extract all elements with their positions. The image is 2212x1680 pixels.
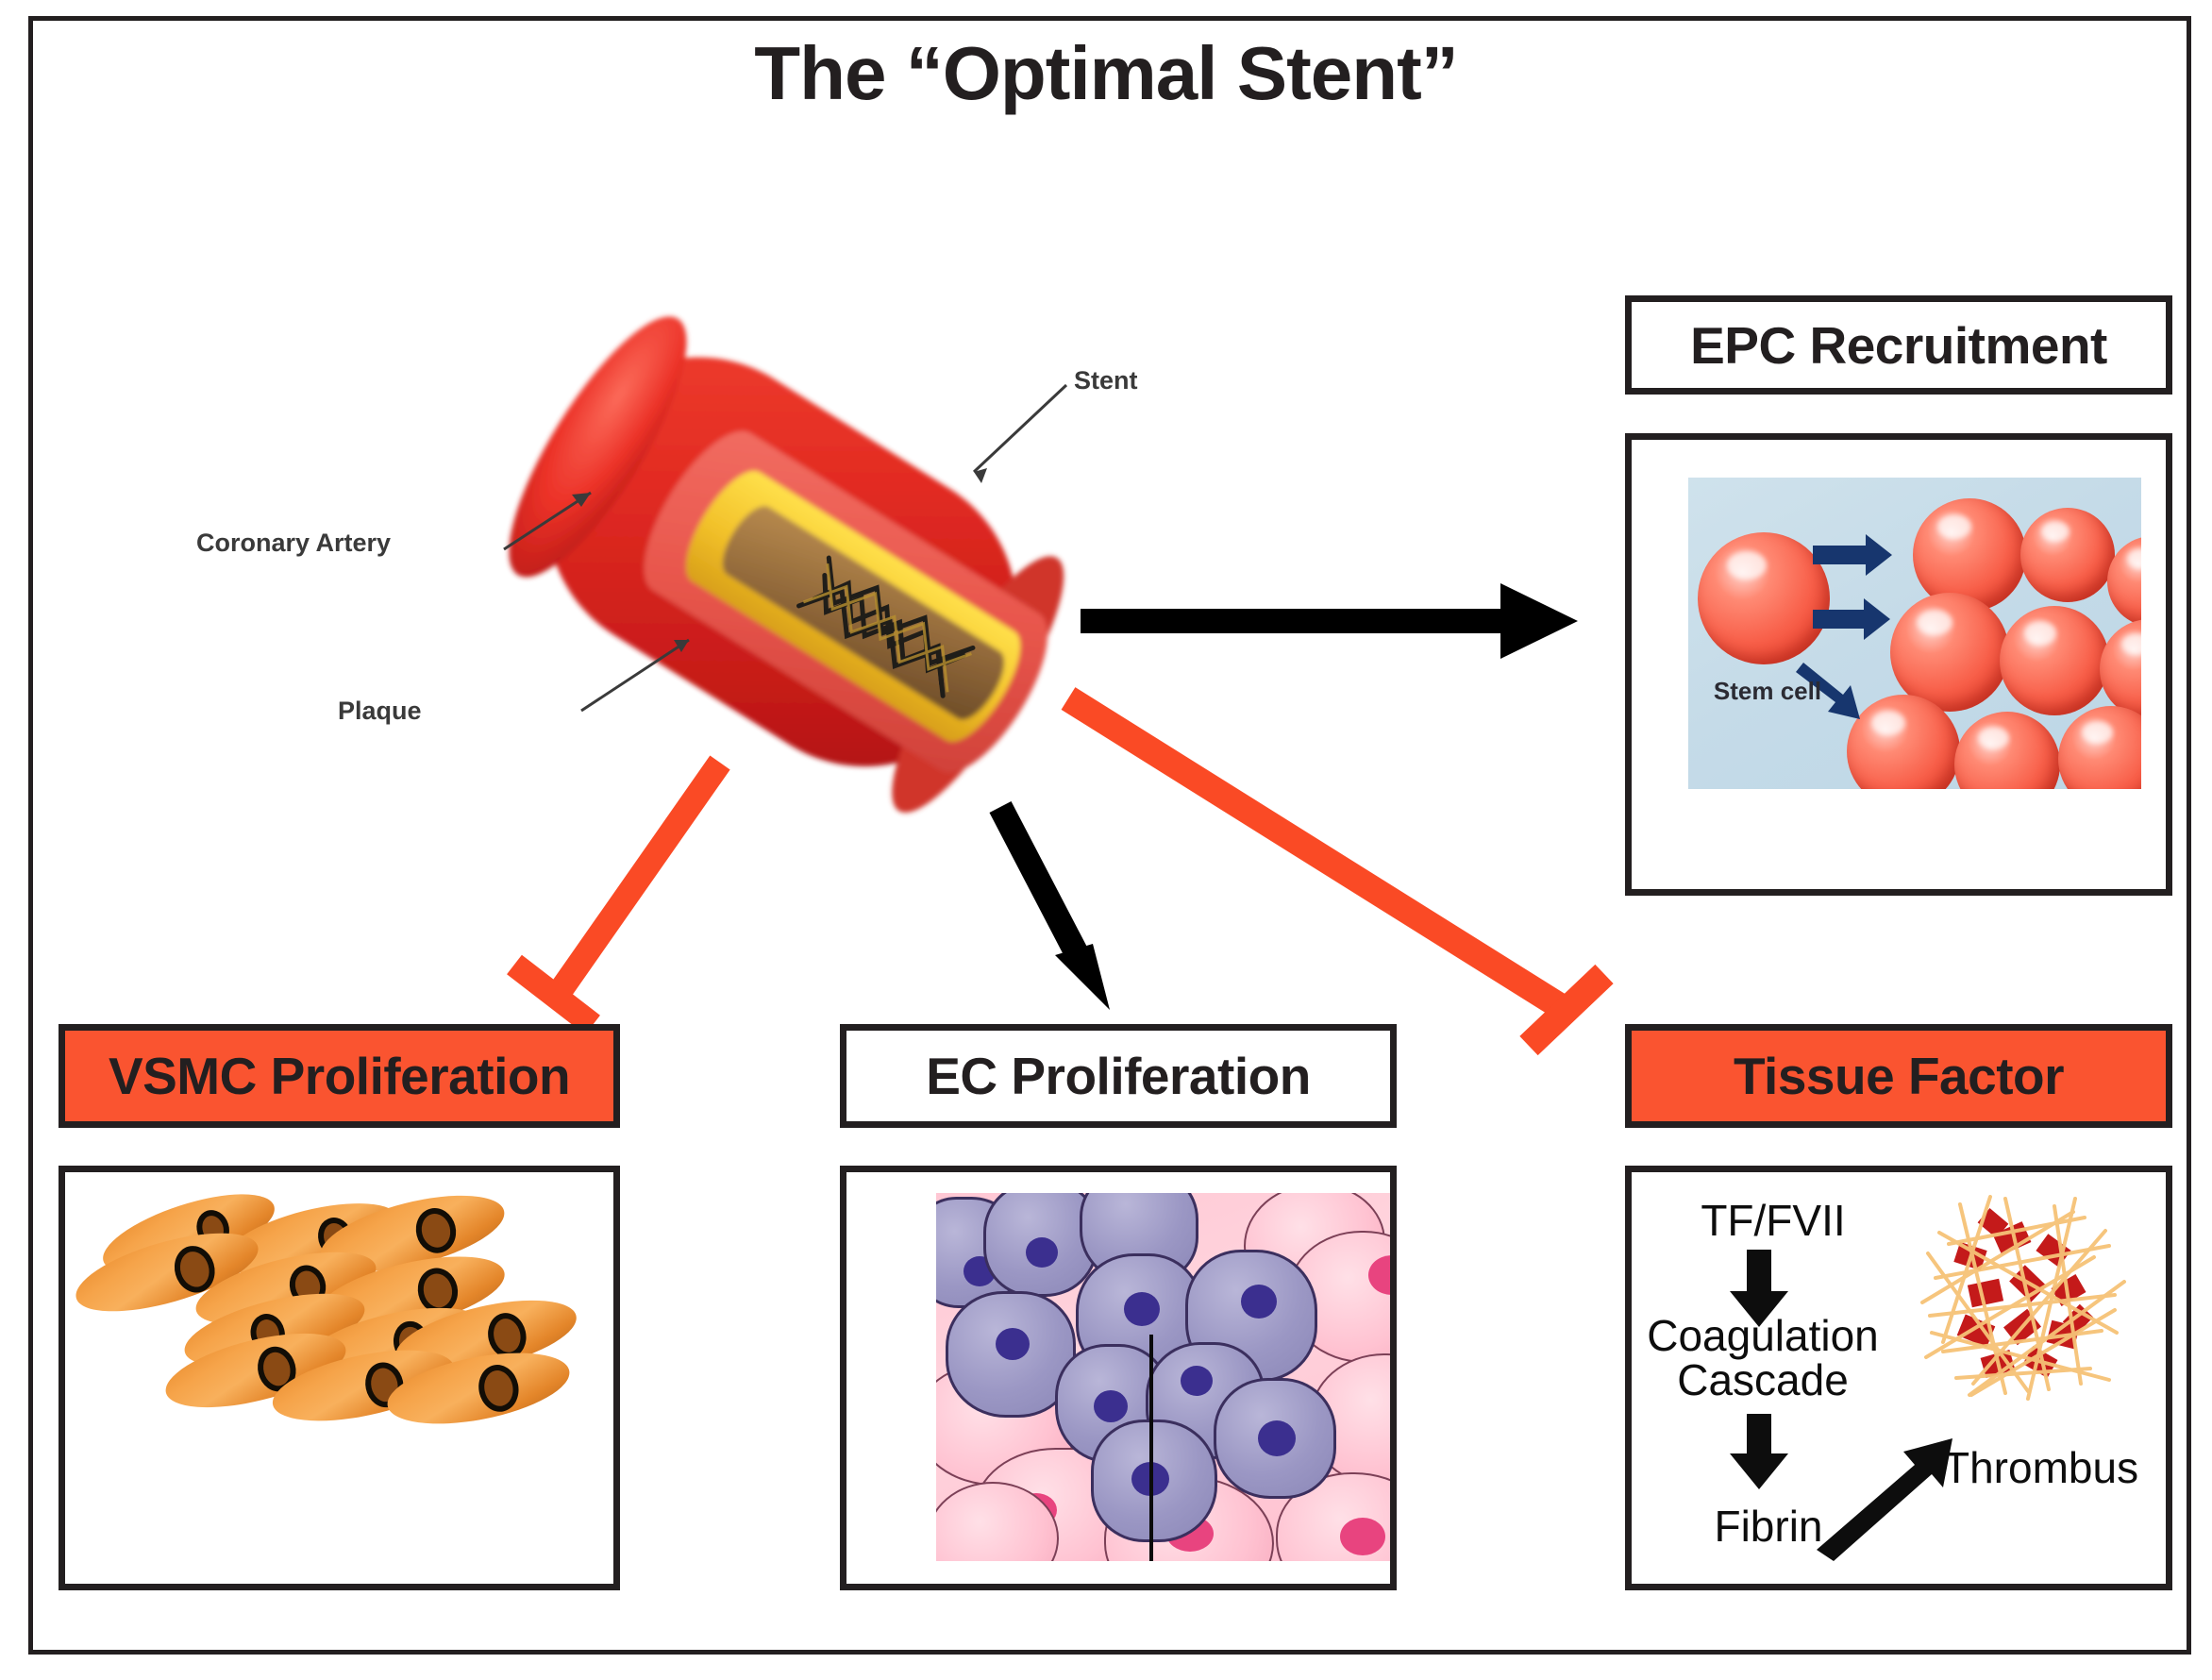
label-coronary-artery: Coronary Artery bbox=[196, 529, 391, 558]
thrombus-illustration bbox=[1915, 1191, 2132, 1408]
endothelial-nucleus bbox=[1124, 1292, 1160, 1326]
panel-body-vsmc bbox=[59, 1166, 620, 1590]
ec-histology-image bbox=[936, 1193, 1397, 1561]
panel-header-tissue-factor: Tissue Factor bbox=[1625, 1024, 2172, 1128]
leader-stent bbox=[974, 385, 1066, 472]
vsmc-cell-cluster bbox=[65, 1172, 613, 1584]
panel-body-ec bbox=[840, 1166, 1397, 1590]
leader-plaque bbox=[581, 640, 689, 711]
endothelial-cell bbox=[1091, 1420, 1217, 1542]
panel-header-ec-label: EC Proliferation bbox=[926, 1046, 1311, 1106]
panel-header-epc-label: EPC Recruitment bbox=[1690, 315, 2107, 376]
panel-header-vsmc-label: VSMC Proliferation bbox=[109, 1046, 570, 1106]
thrombus-svg bbox=[1915, 1191, 2132, 1408]
panel-body-epc: Stem cell bbox=[1625, 433, 2172, 896]
artery-svg bbox=[406, 245, 1142, 868]
diagram-canvas: The “Optimal Stent” bbox=[0, 0, 2212, 1680]
endothelial-cell bbox=[1214, 1378, 1336, 1499]
endothelial-nucleus bbox=[1241, 1285, 1277, 1319]
panel-header-ec: EC Proliferation bbox=[840, 1024, 1397, 1128]
endothelial-nucleus bbox=[1181, 1366, 1213, 1396]
pink-nucleus bbox=[1340, 1518, 1385, 1555]
pink-nucleus bbox=[1368, 1255, 1397, 1295]
pink-nucleus bbox=[1395, 1412, 1397, 1450]
panel-header-epc: EPC Recruitment bbox=[1625, 295, 2172, 395]
cell-nucleus bbox=[411, 1203, 461, 1257]
endothelial-nucleus bbox=[996, 1328, 1030, 1360]
endothelial-nucleus bbox=[1258, 1420, 1296, 1456]
coronary-artery-stent-illustration: Coronary Artery Stent Plaque bbox=[406, 245, 1142, 868]
label-stent: Stent bbox=[1074, 366, 1138, 395]
endothelial-nucleus bbox=[1094, 1390, 1128, 1422]
scale-bar-line bbox=[1149, 1335, 1153, 1561]
stem-cell-label: Stem cell bbox=[1711, 678, 1824, 704]
cell-nucleus bbox=[475, 1361, 523, 1415]
page-title: The “Optimal Stent” bbox=[0, 36, 2212, 111]
panel-header-tissue-factor-label: Tissue Factor bbox=[1734, 1046, 2064, 1106]
panel-body-tissue-factor: TF/FVII Coagulation Cascade Fibrin Throm… bbox=[1625, 1166, 2172, 1590]
epc-stem-cell-image: Stem cell bbox=[1688, 478, 2141, 789]
epc-differentiation-arrows bbox=[1688, 478, 2141, 789]
label-plaque: Plaque bbox=[338, 697, 422, 726]
endothelial-nucleus bbox=[1026, 1237, 1058, 1268]
panel-header-vsmc: VSMC Proliferation bbox=[59, 1024, 620, 1128]
